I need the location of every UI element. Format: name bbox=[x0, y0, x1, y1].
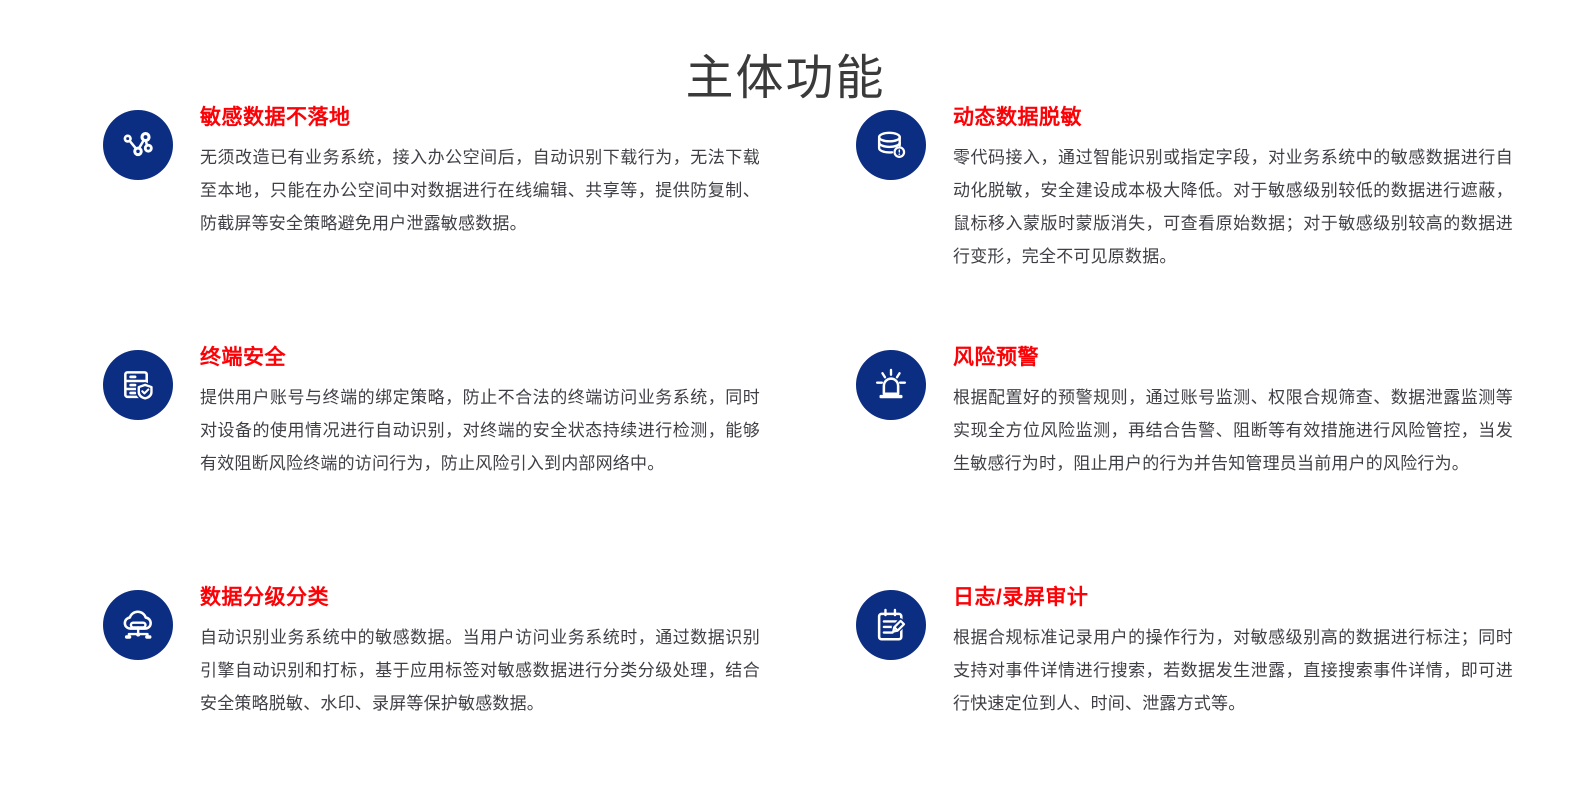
feature-description: 根据配置好的预警规则，通过账号监测、权限合规筛查、数据泄露监测等实现全方位风险监… bbox=[953, 381, 1513, 480]
network-nodes-icon bbox=[103, 110, 173, 180]
feature-text-block: 敏感数据不落地 无须改造已有业务系统，接入办公空间后，自动识别下载行为，无法下载… bbox=[173, 104, 760, 240]
database-alert-icon bbox=[856, 110, 926, 180]
feature-heading: 数据分级分类 bbox=[200, 584, 760, 612]
server-shield-icon bbox=[103, 350, 173, 420]
feature-heading: 动态数据脱敏 bbox=[953, 104, 1513, 132]
feature-card-risk-warning: 风险预警 根据配置好的预警规则，通过账号监测、权限合规筛查、数据泄露监测等实现全… bbox=[856, 344, 1565, 556]
feature-description: 无须改造已有业务系统，接入办公空间后，自动识别下载行为，无法下载至本地，只能在办… bbox=[200, 141, 760, 240]
clipboard-pen-icon bbox=[856, 590, 926, 660]
feature-card-audit-log: 日志/录屏审计 根据合规标准记录用户的操作行为，对敏感级别高的数据进行标注；同时… bbox=[856, 584, 1565, 796]
feature-grid: 敏感数据不落地 无须改造已有业务系统，接入办公空间后，自动识别下载行为，无法下载… bbox=[0, 104, 1571, 796]
feature-text-block: 终端安全 提供用户账号与终端的绑定策略，防止不合法的终端访问业务系统，同时对设备… bbox=[173, 344, 760, 480]
main-feature-section: 主体功能 bbox=[0, 0, 1571, 739]
feature-description: 根据合规标准记录用户的操作行为，对敏感级别高的数据进行标注；同时支持对事件详情进… bbox=[953, 621, 1513, 720]
feature-heading: 终端安全 bbox=[200, 344, 760, 372]
feature-description: 自动识别业务系统中的敏感数据。当用户访问业务系统时，通过数据识别引擎自动识别和打… bbox=[200, 621, 760, 720]
feature-description: 零代码接入，通过智能识别或指定字段，对业务系统中的敏感数据进行自动化脱敏，安全建… bbox=[953, 141, 1513, 273]
feature-card-endpoint-security: 终端安全 提供用户账号与终端的绑定策略，防止不合法的终端访问业务系统，同时对设备… bbox=[103, 344, 812, 556]
feature-text-block: 数据分级分类 自动识别业务系统中的敏感数据。当用户访问业务系统时，通过数据识别引… bbox=[173, 584, 760, 720]
feature-description: 提供用户账号与终端的绑定策略，防止不合法的终端访问业务系统，同时对设备的使用情况… bbox=[200, 381, 760, 480]
alarm-siren-icon bbox=[856, 350, 926, 420]
feature-heading: 日志/录屏审计 bbox=[953, 584, 1513, 612]
feature-text-block: 风险预警 根据配置好的预警规则，通过账号监测、权限合规筛查、数据泄露监测等实现全… bbox=[926, 344, 1513, 480]
feature-heading: 敏感数据不落地 bbox=[200, 104, 760, 132]
page-title: 主体功能 bbox=[0, 46, 1571, 112]
feature-card-sensitive-data: 敏感数据不落地 无须改造已有业务系统，接入办公空间后，自动识别下载行为，无法下载… bbox=[103, 104, 812, 316]
cloud-hierarchy-icon bbox=[103, 590, 173, 660]
feature-heading: 风险预警 bbox=[953, 344, 1513, 372]
feature-text-block: 动态数据脱敏 零代码接入，通过智能识别或指定字段，对业务系统中的敏感数据进行自动… bbox=[926, 104, 1513, 273]
feature-card-dynamic-masking: 动态数据脱敏 零代码接入，通过智能识别或指定字段，对业务系统中的敏感数据进行自动… bbox=[856, 104, 1565, 316]
feature-text-block: 日志/录屏审计 根据合规标准记录用户的操作行为，对敏感级别高的数据进行标注；同时… bbox=[926, 584, 1513, 720]
feature-card-data-classification: 数据分级分类 自动识别业务系统中的敏感数据。当用户访问业务系统时，通过数据识别引… bbox=[103, 584, 812, 796]
